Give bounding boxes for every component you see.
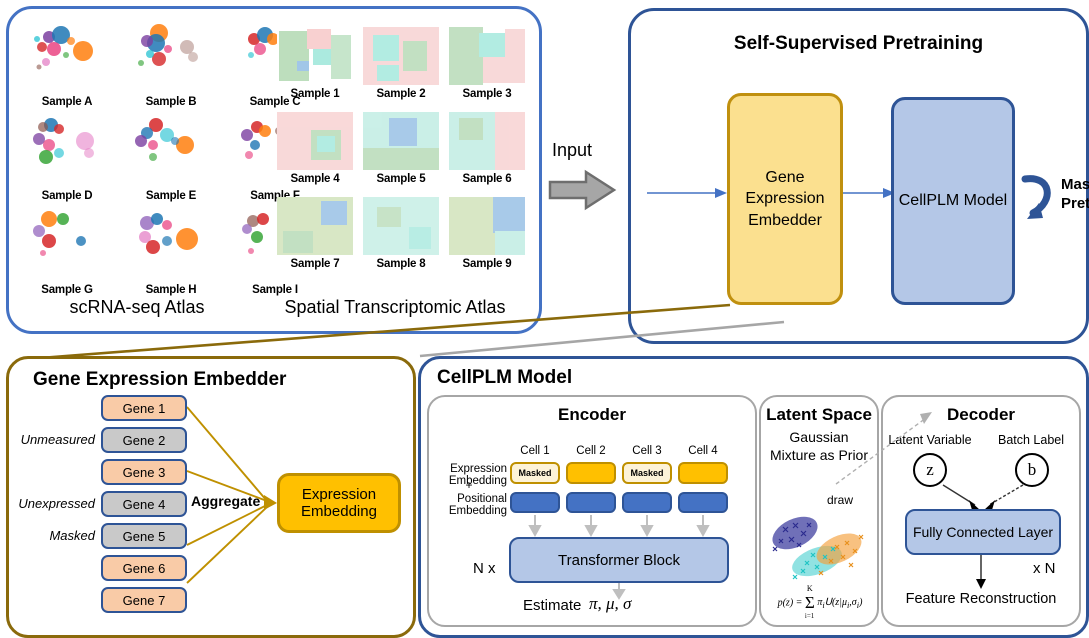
- transformer-block-label: Transformer Block: [558, 552, 680, 569]
- label-unexpressed: Unexpressed: [9, 496, 95, 511]
- umap-plot: [123, 17, 219, 95]
- umap-cell: Sample E: [123, 111, 219, 202]
- umap-label: Sample E: [123, 190, 219, 202]
- umap-plot: [19, 17, 115, 95]
- spatial-plot: [277, 27, 353, 85]
- umap-label: Sample G: [19, 284, 115, 296]
- cellplm-model-label: CellPLM Model: [899, 190, 1007, 212]
- spatial-label: Sample 4: [277, 173, 353, 185]
- gmm-formula-body: πiՍ(z|μi,σi): [815, 597, 863, 608]
- gene-expression-embedder-label: Gene Expression Embedder: [730, 167, 840, 232]
- umap-label: Sample A: [19, 96, 115, 108]
- spatial-label: Sample 8: [363, 258, 439, 270]
- umap-cell: Sample G: [19, 205, 115, 296]
- expression-embedding-label: Expression Embedding: [280, 486, 398, 521]
- curved-loop-arrow-icon: [1017, 171, 1063, 227]
- spatial-label: Sample 3: [449, 88, 525, 100]
- gene-chip-label: Gene 4: [123, 497, 166, 512]
- spatial-plot: [449, 197, 525, 255]
- spatial-cell: Sample 7: [277, 197, 353, 270]
- estimate-params: π, μ, σ: [589, 594, 631, 614]
- spatial-label: Sample 5: [363, 173, 439, 185]
- spatial-plot: [449, 27, 525, 85]
- gene-chip-label: Gene 6: [123, 561, 166, 576]
- estimate-label: Estimate: [523, 597, 581, 614]
- gene-chip-label: Gene 5: [123, 529, 166, 544]
- gene-chip-label: Gene 7: [123, 593, 166, 608]
- spatial-cell: Sample 8: [363, 197, 439, 270]
- spatial-label: Sample 1: [277, 88, 353, 100]
- spatial-plot: [363, 197, 439, 255]
- cellplm-model-panel: CellPLM Model Encoder Cell 1 Cell 2 Cell…: [418, 356, 1089, 638]
- spatial-cell: Sample 6: [449, 112, 525, 185]
- gmm-formula: p(z) = K Σ i=1 πiՍ(z|μi,σi): [765, 593, 875, 613]
- aggregate-label: Aggregate: [191, 493, 260, 509]
- gene-chip-2[interactable]: Gene 2: [101, 427, 187, 453]
- label-unmeasured: Unmeasured: [9, 432, 95, 447]
- gene-chip-label: Gene 1: [123, 401, 166, 416]
- transformer-block[interactable]: Transformer Block: [509, 537, 729, 583]
- umap-cell: Sample D: [19, 111, 115, 202]
- sum-upper-limit: K: [807, 584, 813, 593]
- encoder-repeat-label: N x: [473, 560, 496, 577]
- cellplm-model-box[interactable]: CellPLM Model: [891, 97, 1015, 305]
- encoder-subpanel: Encoder Cell 1 Cell 2 Cell 3 Cell 4 Mask…: [427, 395, 757, 627]
- gene-chip-7[interactable]: Gene 7: [101, 587, 187, 613]
- spatial-plot: [449, 112, 525, 170]
- spatial-label: Sample 7: [277, 258, 353, 270]
- gene-chip-label: Gene 3: [123, 465, 166, 480]
- spatial-cell: Sample 9: [449, 197, 525, 270]
- sum-lower-limit: i=1: [805, 612, 814, 620]
- umap-cell: Sample H: [123, 205, 219, 296]
- encoder-flow-arrows: [429, 397, 755, 625]
- spatial-label: Sample 2: [363, 88, 439, 100]
- umap-plot: [123, 205, 219, 283]
- gmm-formula-text: p(z) =: [778, 597, 805, 608]
- gaussian-mixture-scatter: [765, 505, 875, 585]
- spatial-plot: [277, 112, 353, 170]
- spatial-cell: Sample 5: [363, 112, 439, 185]
- expression-embedding-box[interactable]: Expression Embedding: [277, 473, 401, 533]
- gene-chip-3[interactable]: Gene 3: [101, 459, 187, 485]
- umap-label: Sample I: [227, 284, 323, 296]
- right-arrow-icon: [548, 168, 620, 216]
- masked-pretraining-label: Masked Pretraining: [1061, 176, 1089, 214]
- spatial-plot: [363, 112, 439, 170]
- gene-chip-label: Gene 2: [123, 433, 166, 448]
- umap-label: Sample D: [19, 190, 115, 202]
- fully-connected-layer-label: Fully Connected Layer: [913, 524, 1053, 540]
- umap-plot: [123, 111, 219, 189]
- atlas-panel: Sample A Sample B Sample C Sample D Samp…: [6, 6, 542, 334]
- spatial-cell: Sample 2: [363, 27, 439, 100]
- spatial-cell: Sample 1: [277, 27, 353, 100]
- umap-cell: Sample B: [123, 17, 219, 108]
- gene-expression-embedder-box[interactable]: Gene Expression Embedder: [727, 93, 843, 305]
- label-masked: Masked: [9, 528, 95, 543]
- input-label: Input: [552, 140, 592, 161]
- gene-expression-embedder-panel: Gene Expression Embedder Gene 1 Gene 2 G…: [6, 356, 416, 638]
- pretraining-panel: Self-Supervised Pretraining Gene Express…: [628, 8, 1089, 344]
- umap-label: Sample H: [123, 284, 219, 296]
- spatial-plot: [363, 27, 439, 85]
- umap-plot: [19, 205, 115, 283]
- cellplm-panel-title: CellPLM Model: [437, 367, 572, 389]
- umap-cell: Sample A: [19, 17, 115, 108]
- feature-reconstruction-label: Feature Reconstruction: [883, 591, 1079, 607]
- spatial-label: Sample 6: [449, 173, 525, 185]
- umap-label: Sample B: [123, 96, 219, 108]
- draw-arrow: [830, 400, 960, 490]
- decoder-repeat-label: x N: [1033, 560, 1056, 577]
- gene-chip-5[interactable]: Gene 5: [101, 523, 187, 549]
- spatial-plot: [277, 197, 353, 255]
- gene-chip-6[interactable]: Gene 6: [101, 555, 187, 581]
- gene-chip-4[interactable]: Gene 4: [101, 491, 187, 517]
- fully-connected-layer[interactable]: Fully Connected Layer: [905, 509, 1061, 555]
- spatial-label: Sample 9: [449, 258, 525, 270]
- gene-chip-1[interactable]: Gene 1: [101, 395, 187, 421]
- spatial-cell: Sample 4: [277, 112, 353, 185]
- spatial-cell: Sample 3: [449, 27, 525, 100]
- umap-plot: [19, 111, 115, 189]
